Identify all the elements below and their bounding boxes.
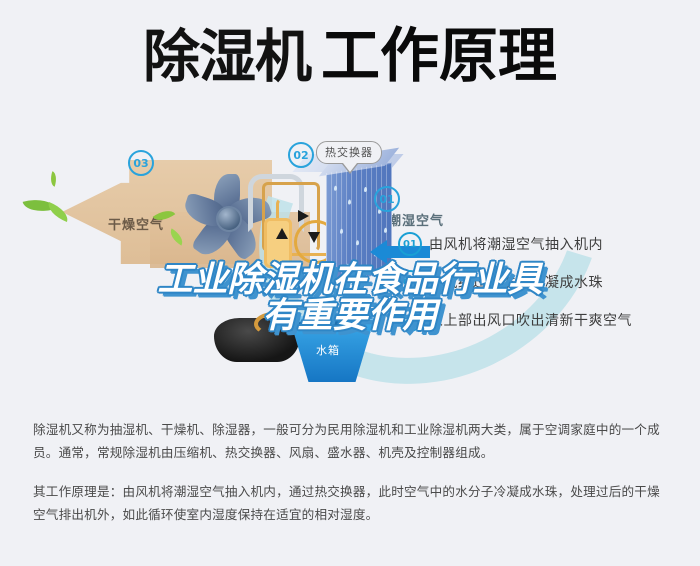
diagram-badge-02: 02 [288, 142, 314, 168]
page-title: 除湿机工作原理 [0, 26, 700, 86]
step-text: 从上部出风口吹出清新干爽空气 [429, 310, 632, 330]
diagram-badge-01: 01 [374, 186, 400, 212]
step-text: 由风机将潮湿空气抽入机内 [429, 234, 603, 254]
list-item: 02 空气经过蒸发器冷凝成水珠 [398, 270, 694, 294]
description-paragraph-2: 其工作原理是：由风机将潮湿空气抽入机内，通过热交换器，此时空气中的水分子冷凝成水… [33, 480, 669, 526]
leaf-icon [48, 171, 59, 186]
step-number: 02 [398, 270, 422, 294]
compressor-icon [214, 318, 300, 362]
evaporator-block-icon [326, 163, 392, 283]
heat-exchanger-callout: 热交换器 [316, 141, 382, 164]
water-tank-icon: 水箱 [290, 320, 374, 382]
page-title-bold: 工作原理 [321, 21, 557, 90]
step-text: 空气经过蒸发器冷凝成水珠 [429, 272, 603, 292]
description-block: 除湿机又称为抽湿机、干燥机、除湿器，一般可分为民用除湿机和工业除湿机两大类，属于… [33, 418, 669, 542]
infographic-page: 除湿机工作原理 干燥空气 潮湿空气 [0, 0, 700, 566]
step-number: 01 [398, 232, 422, 256]
step-number: 03 [398, 308, 422, 332]
description-paragraph-1: 除湿机又称为抽湿机、干燥机、除湿器，一般可分为民用除湿机和工业除湿机两大类，属于… [33, 418, 669, 464]
list-item: 03 从上部出风口吹出清新干爽空气 [398, 308, 694, 332]
page-title-light: 除湿机 [143, 24, 311, 90]
humid-air-label: 潮湿空气 [388, 210, 444, 229]
diagram-badge-03: 03 [128, 150, 154, 176]
step-list: 01 由风机将潮湿空气抽入机内 02 空气经过蒸发器冷凝成水珠 03 从上部出风… [398, 232, 694, 346]
water-tank-label: 水箱 [316, 342, 340, 358]
list-item: 01 由风机将潮湿空气抽入机内 [398, 232, 694, 256]
